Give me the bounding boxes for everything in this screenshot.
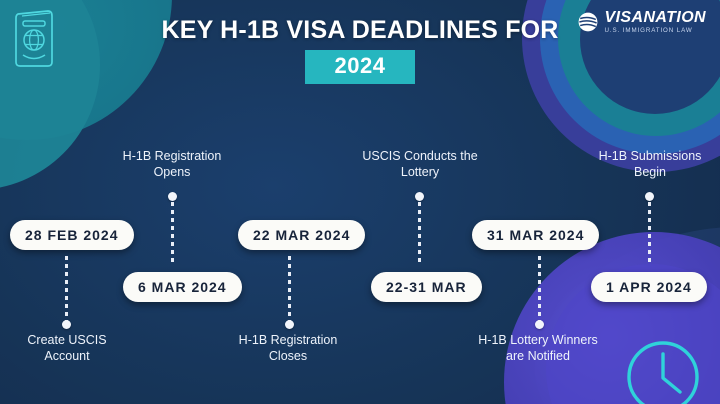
event-connector <box>65 256 68 324</box>
event-caption-line1: H-1B Registration <box>214 332 362 348</box>
event-date-pill[interactable]: 6 MAR 2024 <box>123 272 242 302</box>
event-caption-line1: H-1B Submissions <box>576 148 720 164</box>
event-connector <box>648 202 651 264</box>
event-dot <box>285 320 294 329</box>
event-caption-line1: Create USCIS <box>0 332 134 348</box>
event-dot <box>415 192 424 201</box>
event-caption-line1: H-1B Lottery Winners <box>455 332 621 348</box>
event-caption-line2: Opens <box>98 164 246 180</box>
event-connector <box>538 256 541 324</box>
event-dot <box>168 192 177 201</box>
event-caption-line1: H-1B Registration <box>98 148 246 164</box>
timeline: 28 FEB 2024 Create USCIS Account H-1B Re… <box>0 0 720 404</box>
event-date-pill[interactable]: 31 MAR 2024 <box>472 220 599 250</box>
event-caption: H-1B Registration Opens <box>98 148 246 180</box>
event-caption: H-1B Submissions Begin <box>576 148 720 180</box>
event-caption-line2: Closes <box>214 348 362 364</box>
event-caption-line2: Account <box>0 348 134 364</box>
event-connector <box>418 202 421 264</box>
event-date-pill[interactable]: 28 FEB 2024 <box>10 220 134 250</box>
event-connector <box>171 202 174 264</box>
event-caption-line2: Lottery <box>338 164 502 180</box>
event-dot <box>535 320 544 329</box>
event-caption: H-1B Lottery Winners are Notified <box>455 332 621 364</box>
clock-icon <box>620 334 706 404</box>
event-dot <box>62 320 71 329</box>
event-connector <box>288 256 291 324</box>
event-dot <box>645 192 654 201</box>
event-caption: H-1B Registration Closes <box>214 332 362 364</box>
event-date-pill[interactable]: 1 APR 2024 <box>591 272 707 302</box>
infographic-canvas: VISANATION U.S. IMMIGRATION LAW KEY H-1B… <box>0 0 720 404</box>
event-date-pill[interactable]: 22 MAR 2024 <box>238 220 365 250</box>
event-caption: USCIS Conducts the Lottery <box>338 148 502 180</box>
event-caption-line2: Begin <box>576 164 720 180</box>
event-caption: Create USCIS Account <box>0 332 134 364</box>
event-caption-line2: are Notified <box>455 348 621 364</box>
event-caption-line1: USCIS Conducts the <box>338 148 502 164</box>
event-date-pill[interactable]: 22-31 MAR <box>371 272 482 302</box>
